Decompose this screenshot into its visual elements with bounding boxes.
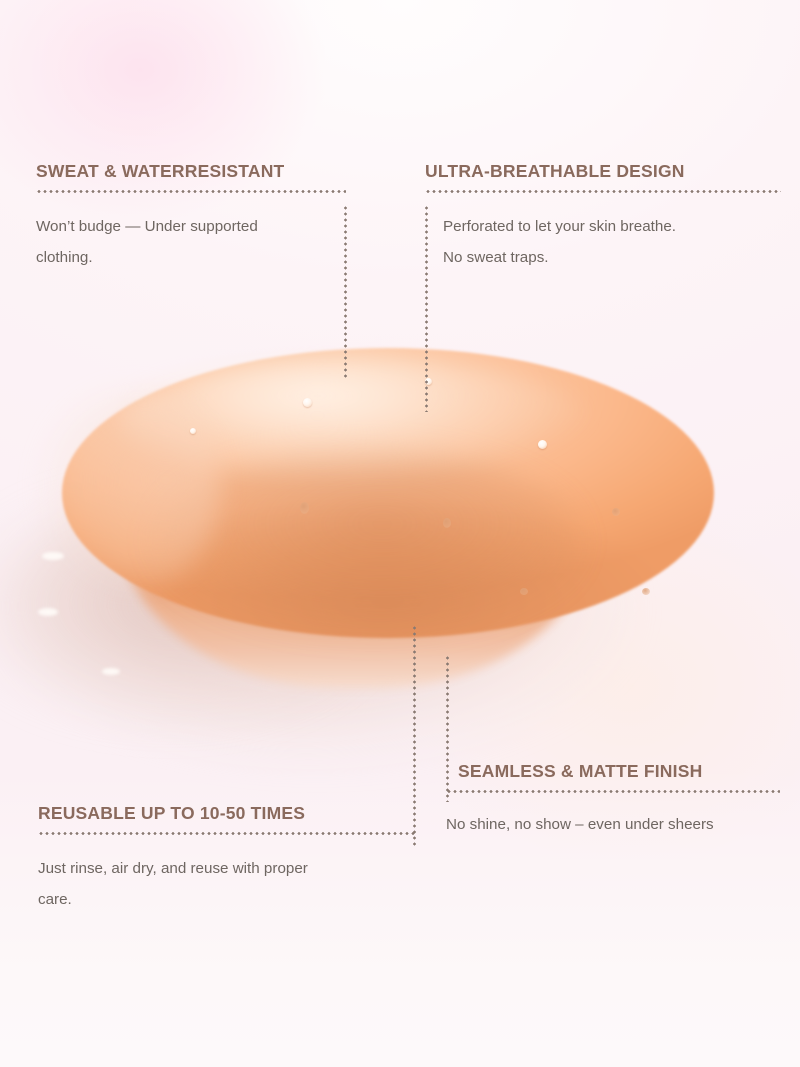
callout-body: No shine, no show – even under sheers	[446, 809, 780, 840]
surface-speck	[38, 608, 58, 616]
callout-body-line: clothing.	[36, 242, 346, 273]
callout-body-line: Perforated to let your skin breathe.	[443, 211, 781, 242]
callout-body-line: Just rinse, air dry, and reuse with prop…	[38, 853, 415, 884]
callout-body-line: care.	[38, 884, 415, 915]
surface-speck	[102, 668, 120, 675]
perforation-hole	[443, 518, 451, 528]
perforation-hole	[190, 428, 196, 434]
callout-seamless-matte-finish: SEAMLESS & MATTE FINISH No shine, no sho…	[458, 762, 780, 840]
callout-body-line: No shine, no show – even under sheers	[446, 809, 780, 840]
callout-reusable-up-to-10-50-times: REUSABLE UP TO 10-50 TIMES Just rinse, a…	[38, 804, 415, 916]
callout-body: Perforated to let your skin breathe. No …	[425, 211, 781, 273]
perforation-hole	[303, 398, 312, 407]
callout-divider	[446, 790, 780, 793]
perforation-hole	[300, 502, 309, 514]
callout-body: Won’t budge — Under supported clothing.	[36, 211, 346, 273]
callout-body-line: No sweat traps.	[443, 242, 781, 273]
product-left-edge-falloff	[40, 390, 220, 590]
callout-title: ULTRA-BREATHABLE DESIGN	[425, 162, 781, 181]
perforation-hole	[538, 440, 547, 449]
callout-title: SEAMLESS & MATTE FINISH	[458, 762, 780, 781]
callout-sweat-water-resistant: SWEAT & WATERRESISTANT Won’t budge — Und…	[36, 162, 346, 274]
callout-divider	[38, 832, 415, 835]
perforation-hole	[612, 508, 620, 516]
callout-title: REUSABLE UP TO 10-50 TIMES	[38, 804, 415, 823]
callout-body-line: Won’t budge — Under supported	[36, 211, 346, 242]
callout-divider	[425, 190, 781, 193]
callout-title: SWEAT & WATERRESISTANT	[36, 162, 346, 181]
callout-body: Just rinse, air dry, and reuse with prop…	[38, 853, 415, 915]
product-infographic: SWEAT & WATERRESISTANT Won’t budge — Und…	[0, 0, 800, 1067]
connector-line-seamless-matte	[446, 655, 449, 802]
perforation-hole	[520, 588, 528, 595]
product-image	[0, 330, 800, 790]
callout-divider	[36, 190, 346, 193]
callout-ultra-breathable-design: ULTRA-BREATHABLE DESIGN Perforated to le…	[425, 162, 781, 274]
perforation-hole	[642, 588, 650, 595]
surface-speck	[42, 552, 64, 560]
